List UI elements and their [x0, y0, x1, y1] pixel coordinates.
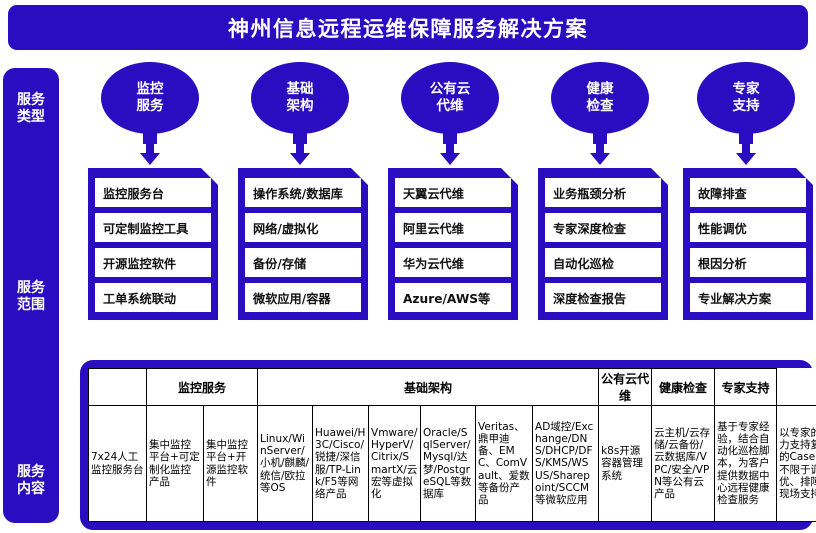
category-ellipse-expert-support[interactable]: 专家支持	[697, 62, 795, 134]
scope-item[interactable]: 网络/虚拟化	[244, 212, 362, 243]
arrow-down-icon-infrastructure	[289, 140, 311, 166]
row-label-bar: 服务 类型 服务 范围 服务 内容	[3, 68, 59, 523]
table-group-header-expert-support: 专家支持	[715, 369, 777, 406]
scope-item[interactable]: 操作系统/数据库	[244, 177, 362, 208]
table-cell: 集中监控平台+可定制化监控产品	[147, 406, 204, 522]
scope-box-health-check: 业务瓶颈分析 专家深度检查 自动化巡检 深度检查报告	[538, 168, 668, 320]
category-ellipse-health-check[interactable]: 健康检查	[551, 62, 649, 134]
scope-item[interactable]: 华为云代维	[394, 247, 512, 278]
row-label-service-scope: 服务 范围	[3, 280, 59, 314]
arrow-down-icon-health-check	[589, 140, 611, 166]
table-cell: 以专家的能力支持复杂的Case，不限于调优、排障、现场支持	[777, 406, 816, 522]
scope-item[interactable]: 专业解决方案	[689, 282, 807, 313]
service-content-table: 监控服务 基础架构 公有云代维 健康检查 专家支持 7x24人工监控服务台 集中…	[88, 368, 816, 522]
scope-item[interactable]: 深度检查报告	[544, 282, 662, 313]
category-ellipse-expert-support-label: 专家支持	[733, 81, 760, 115]
table-group-header-row: 监控服务 基础架构 公有云代维 健康检查 专家支持	[89, 369, 816, 406]
table-cell: Vmware/HyperV/Citrix/SmartX/云宏等虚拟化	[369, 406, 421, 522]
scope-box-monitoring: 监控服务台 可定制监控工具 开源监控软件 工单系统联动	[88, 168, 218, 320]
scope-item[interactable]: 根因分析	[689, 247, 807, 278]
category-ellipse-monitoring-label: 监控服务	[137, 81, 164, 115]
arrow-down-icon-expert-support	[735, 140, 757, 166]
row-label-service-content: 服务 内容	[3, 464, 59, 498]
table-cell: Veritas、鼎甲迪备、EMC、ComVault、爱数等备份产品	[476, 406, 533, 522]
table-cell: 云主机/云存储/云备份/云数据库/VPC/安全/VPN等公有云产品	[652, 406, 715, 522]
table-cell: Huawei/H3C/Cisco/锐捷/深信服/TP-Link/F5等网络产品	[313, 406, 369, 522]
table-cell: Linux/WinServer/小机/麒麟/统信/欧拉等OS	[258, 406, 313, 522]
scope-box-expert-support: 故障排查 性能调优 根因分析 专业解决方案	[683, 168, 813, 320]
scope-item[interactable]: 自动化巡检	[544, 247, 662, 278]
row-label-service-content-line1: 服务	[3, 464, 59, 481]
scope-item[interactable]: 可定制监控工具	[94, 212, 212, 243]
scope-item[interactable]: 天翼云代维	[394, 177, 512, 208]
scope-item[interactable]: 开源监控软件	[94, 247, 212, 278]
table-cell: 基于专家经验，结合自动化巡检脚本，为客户提供数据中心远程健康检查服务	[715, 406, 777, 522]
row-label-service-content-line2: 内容	[3, 481, 59, 498]
table-group-header-infrastructure: 基础架构	[258, 369, 599, 406]
scope-item[interactable]: 微软应用/容器	[244, 282, 362, 313]
table-cell: Oracle/SqlServer/Mysql/达梦/PostgreSQL等数据库	[421, 406, 476, 522]
category-ellipse-monitoring[interactable]: 监控服务	[101, 62, 199, 134]
row-label-service-type: 服务 类型	[3, 92, 59, 126]
table-group-header-public-cloud: 公有云代维	[599, 369, 652, 406]
table-group-header-monitoring: 监控服务	[147, 369, 258, 406]
row-label-service-type-line1: 服务	[3, 92, 59, 109]
category-ellipse-health-check-label: 健康检查	[587, 81, 614, 115]
scope-item[interactable]: 阿里云代维	[394, 212, 512, 243]
table-cell: 7x24人工监控服务台	[89, 406, 147, 522]
category-ellipse-public-cloud-label: 公有云代维	[430, 81, 471, 115]
scope-item[interactable]: 工单系统联动	[94, 282, 212, 313]
scope-item[interactable]: 专家深度检查	[544, 212, 662, 243]
diagram-root: 神州信息远程运维保障服务解决方案 服务 类型 服务 范围 服务 内容 监控服务 …	[0, 0, 816, 533]
table-cell: 集中监控平台+开源监控软件	[204, 406, 258, 522]
page-title: 神州信息远程运维保障服务解决方案	[228, 13, 588, 43]
table-row: 7x24人工监控服务台 集中监控平台+可定制化监控产品 集中监控平台+开源监控软…	[89, 406, 816, 522]
title-banner: 神州信息远程运维保障服务解决方案	[8, 5, 808, 50]
scope-item[interactable]: Azure/AWS等	[394, 282, 512, 313]
row-label-service-scope-line1: 服务	[3, 280, 59, 297]
row-label-service-scope-line2: 范围	[3, 297, 59, 314]
scope-item[interactable]: 性能调优	[689, 212, 807, 243]
scope-item[interactable]: 备份/存储	[244, 247, 362, 278]
arrow-down-icon-public-cloud	[439, 140, 461, 166]
arrow-down-icon-monitoring	[139, 140, 161, 166]
table-cell: AD域控/Exchange/DNS/DHCP/DFS/KMS/WSUS/Shar…	[533, 406, 599, 522]
category-ellipse-public-cloud[interactable]: 公有云代维	[401, 62, 499, 134]
scope-box-infrastructure: 操作系统/数据库 网络/虚拟化 备份/存储 微软应用/容器	[238, 168, 368, 320]
scope-box-public-cloud: 天翼云代维 阿里云代维 华为云代维 Azure/AWS等	[388, 168, 518, 320]
row-label-service-type-line2: 类型	[3, 109, 59, 126]
scope-item[interactable]: 业务瓶颈分析	[544, 177, 662, 208]
service-content-table-container: 监控服务 基础架构 公有云代维 健康检查 专家支持 7x24人工监控服务台 集中…	[80, 360, 813, 530]
scope-item[interactable]: 监控服务台	[94, 177, 212, 208]
scope-item[interactable]: 故障排查	[689, 177, 807, 208]
table-group-header-blank	[89, 369, 147, 406]
table-group-header-health-check: 健康检查	[652, 369, 715, 406]
category-ellipse-infrastructure-label: 基础架构	[287, 81, 314, 115]
table-cell: k8s开源容器管理系统	[599, 406, 652, 522]
category-ellipse-infrastructure[interactable]: 基础架构	[251, 62, 349, 134]
